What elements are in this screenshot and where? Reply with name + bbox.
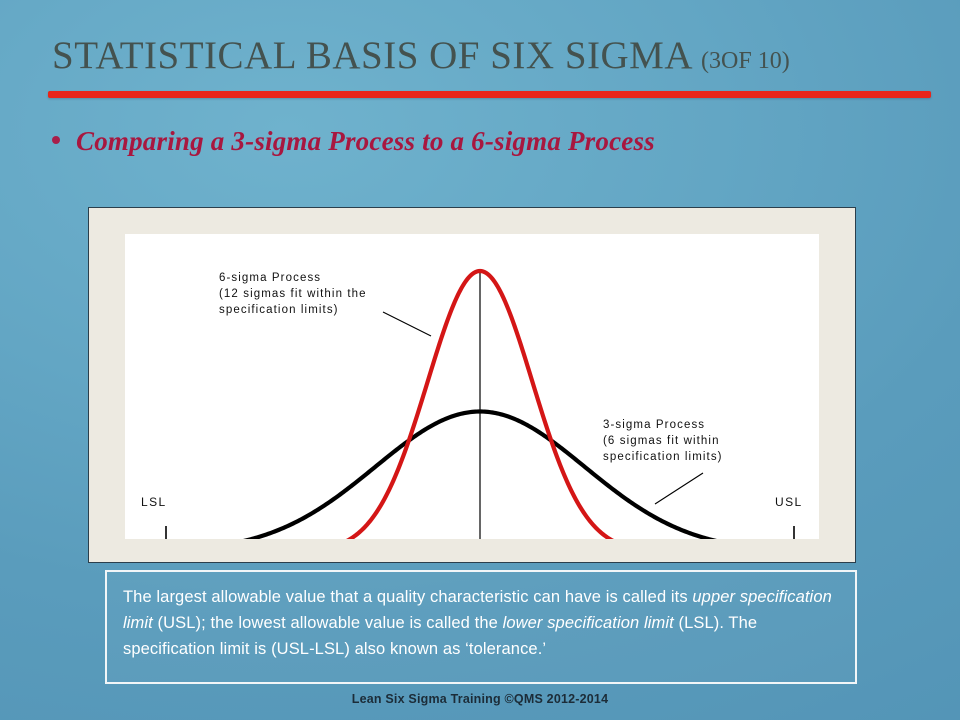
plot-area: 6-sigma Process (12 sigmas fit within th…	[125, 234, 819, 539]
bullet-dot-icon	[52, 136, 60, 144]
slide-canvas: Statistical Basis of Six Sigma(3of 10) C…	[0, 0, 960, 720]
six-sigma-annotation: 6-sigma Process (12 sigmas fit within th…	[219, 270, 367, 318]
slide-footer: Lean Six Sigma Training ©QMS 2012-2014	[0, 692, 960, 706]
usl-label: USL	[775, 495, 803, 509]
page-title: Statistical Basis of Six Sigma(3of 10)	[52, 34, 932, 94]
figure-frame: 6-sigma Process (12 sigmas fit within th…	[88, 207, 856, 563]
caption-box: The largest allowable value that a quali…	[105, 570, 857, 684]
caption-text: The largest allowable value that a quali…	[123, 584, 839, 662]
page-title-main: Statistical Basis of Six Sigma	[52, 34, 693, 77]
caption-part-2: (USL); the lowest allowable value is cal…	[153, 614, 503, 632]
title-divider-rule	[48, 91, 931, 98]
caption-part-1: The largest allowable value that a quali…	[123, 588, 692, 606]
three-sigma-leader-line	[655, 473, 703, 504]
three-sigma-annotation: 3-sigma Process (6 sigmas fit within spe…	[603, 417, 723, 465]
page-title-suffix: (3of 10)	[701, 48, 790, 74]
lsl-label: LSL	[141, 495, 167, 509]
bullet-text: Comparing a 3-sigma Process to a 6-sigma…	[76, 126, 655, 157]
bullet-row: Comparing a 3-sigma Process to a 6-sigma…	[52, 126, 922, 157]
six-sigma-leader-line	[383, 312, 431, 336]
caption-emphasis-lsl: lower specification limit	[503, 614, 674, 632]
